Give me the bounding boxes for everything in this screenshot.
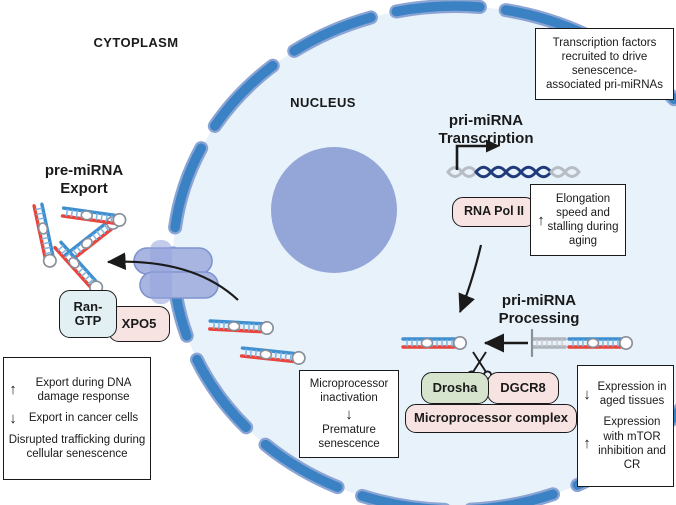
protein-rna-pol-ii[interactable]: RNA Pol II [452,197,536,227]
protein-microprocessor-complex[interactable]: Microprocessor complex [405,404,577,433]
note-entry-text: Disrupted trafficking during cellular se… [8,433,146,461]
note-line: inactivation [320,391,378,405]
expression-note: ↓ Expression in aged tissues ↑ Expressio… [577,365,674,487]
nucleus-label: NUCLEUS [268,96,378,111]
note-line: recruited to drive [562,50,648,64]
note-entry-text: Expression with mTOR inhibition and CR [595,415,669,471]
note-line: senescence- [572,64,637,78]
note-line: Elongation [556,193,610,205]
section-pri-mirna-transcription: pri-miRNA Transcription [416,95,556,147]
nucleolus-icon [271,147,397,273]
pre-mirna-hairpin [62,206,126,227]
note-line: Premature [322,423,376,437]
protein-drosha[interactable]: Drosha [421,372,489,404]
note-entry: ↓ Export in cancer cells [8,411,146,426]
note-entry: ↓ Expression in aged tissues [582,380,669,408]
note-entry: ↑ Expression with mTOR inhibition and CR [582,415,669,471]
down-arrow-icon: ↓ [345,407,353,422]
note-line: senescence [318,437,379,451]
transcription-factors-note: Transcription factors recruited to drive… [535,28,674,100]
section-pri-mirna-processing: pri-miRNA Processing [474,275,604,327]
export-effects-note: ↑ Export during DNA damage response ↓ Ex… [3,357,151,480]
protein-dgcr8[interactable]: DGCR8 [487,372,559,404]
pre-mirna-hairpin [32,204,57,268]
note-entry-text: Export in cancer cells [21,411,146,425]
up-arrow-icon: ↑ [8,382,18,397]
note-line: Microprocessor [310,377,389,391]
note-line: aging [569,235,597,247]
elongation-note: ↑ Elongation speed and stalling during a… [530,184,626,256]
figure-canvas: CYTOPLASM NUCLEUS pre-miRNA Export pri-m… [0,0,676,505]
up-arrow-icon: ↑ [536,213,546,228]
microprocessor-note: Microprocessor inactivation ↓ Premature … [299,370,399,458]
note-entry-text: Expression in aged tissues [595,380,669,408]
cytoplasm-label: CYTOPLASM [76,36,196,51]
nuclear-pore-complex-icon [134,240,218,304]
down-arrow-icon: ↓ [582,387,592,402]
note-entry: ↑ Export during DNA damage response [8,376,146,404]
down-arrow-icon: ↓ [8,411,18,426]
section-pre-mirna-export: pre-miRNA Export [14,145,154,197]
note-line: Transcription factors [553,36,657,50]
up-arrow-icon: ↑ [582,436,592,451]
note-entry: Disrupted trafficking during cellular se… [8,433,146,461]
note-line: associated pri-miRNAs [546,78,663,92]
protein-ran-gtp[interactable]: Ran- GTP [59,290,117,338]
note-line: speed and [556,207,610,219]
note-entry-text: Export during DNA damage response [21,376,146,404]
note-line: stalling during [548,221,619,233]
protein-xpo5[interactable]: XPO5 [108,306,170,342]
